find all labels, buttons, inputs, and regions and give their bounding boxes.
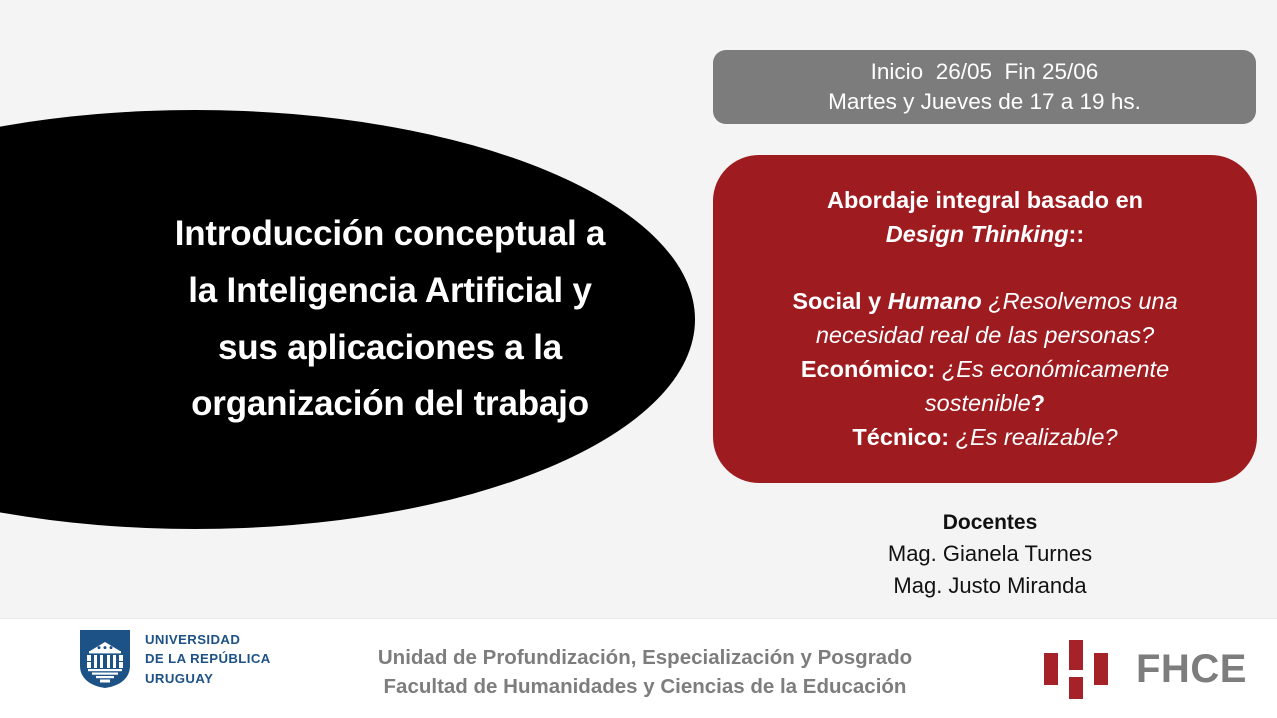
udelar-wordmark: UNIVERSIDAD DE LA REPÚBLICA URUGUAY bbox=[145, 630, 271, 689]
approach-box: Abordaje integral basado en Design Think… bbox=[713, 155, 1257, 483]
criterion-separator-technical: : bbox=[941, 424, 955, 450]
course-title: Introducción conceptual a la Inteligenci… bbox=[90, 206, 690, 433]
footer-unit-text: Unidad de Profundización, Especializació… bbox=[320, 643, 970, 702]
udelar-logo: UNIVERSIDAD DE LA REPÚBLICA URUGUAY bbox=[78, 628, 271, 690]
criterion-separator-economic: : bbox=[928, 356, 942, 382]
criterion-question-economic-line-1: ¿Es económicamente bbox=[942, 356, 1169, 382]
slide-canvas: Introducción conceptual a la Inteligenci… bbox=[0, 0, 1277, 718]
schedule-days-hours: Martes y Jueves de 17 a 19 hs. bbox=[828, 87, 1141, 117]
approach-criterion-social: Social y Humano ¿Resolvemos una necesida… bbox=[792, 285, 1177, 353]
approach-heading-suffix: :: bbox=[1069, 221, 1085, 247]
footer-bar: UNIVERSIDAD DE LA REPÚBLICA URUGUAY Unid… bbox=[0, 618, 1277, 718]
teacher-name-2: Mag. Justo Miranda bbox=[800, 570, 1180, 601]
udelar-line-1: UNIVERSIDAD bbox=[145, 630, 271, 650]
teachers-label: Docentes bbox=[800, 508, 1180, 538]
criterion-question-economic-tail: ? bbox=[1031, 390, 1045, 416]
schedule-box: Inicio 26/05 Fin 25/06 Martes y Jueves d… bbox=[713, 50, 1256, 124]
criterion-question-economic-line-2: sostenible bbox=[925, 390, 1031, 416]
fhce-wordmark: FHCE bbox=[1136, 649, 1247, 689]
udelar-line-2: DE LA REPÚBLICA bbox=[145, 649, 271, 669]
course-title-line-1: Introducción conceptual a bbox=[90, 206, 690, 263]
approach-criterion-technical: Técnico: ¿Es realizable? bbox=[792, 421, 1177, 455]
fhce-mark-icon bbox=[1038, 637, 1124, 701]
approach-heading-emphasis: Design Thinking bbox=[886, 221, 1069, 247]
criterion-label-social: Social y bbox=[792, 288, 887, 314]
criterion-question-social-line-2: necesidad real de las personas? bbox=[816, 322, 1154, 348]
udelar-line-3: URUGUAY bbox=[145, 669, 271, 689]
footer-unit-line-1: Unidad de Profundización, Especializació… bbox=[320, 643, 970, 672]
fhce-logo: FHCE bbox=[1038, 637, 1247, 701]
udelar-shield-icon bbox=[78, 628, 132, 690]
approach-heading-line-1: Abordaje integral basado en bbox=[827, 187, 1143, 213]
course-title-line-4: organización del trabajo bbox=[90, 376, 690, 433]
course-title-line-3: sus aplicaciones a la bbox=[90, 320, 690, 377]
criterion-question-social-line-1: ¿Resolvemos una bbox=[988, 288, 1177, 314]
approach-criteria-list: Social y Humano ¿Resolvemos una necesida… bbox=[792, 285, 1177, 454]
criterion-label-economic: Económico bbox=[801, 356, 928, 382]
teachers-block: Docentes Mag. Gianela Turnes Mag. Justo … bbox=[800, 508, 1180, 601]
criterion-label-social-emphasis: Humano bbox=[888, 288, 982, 314]
schedule-dates: Inicio 26/05 Fin 25/06 bbox=[871, 57, 1099, 87]
criterion-label-technical: Técnico bbox=[852, 424, 941, 450]
footer-unit-line-2: Facultad de Humanidades y Ciencias de la… bbox=[320, 672, 970, 701]
course-title-line-2: la Inteligencia Artificial y bbox=[90, 263, 690, 320]
criterion-question-technical: ¿Es realizable? bbox=[956, 424, 1118, 450]
teacher-name-1: Mag. Gianela Turnes bbox=[800, 538, 1180, 569]
approach-criterion-economic: Económico: ¿Es económicamente sostenible… bbox=[792, 353, 1177, 421]
title-ellipse: Introducción conceptual a la Inteligenci… bbox=[0, 110, 695, 529]
approach-heading: Abordaje integral basado en Design Think… bbox=[827, 183, 1143, 251]
